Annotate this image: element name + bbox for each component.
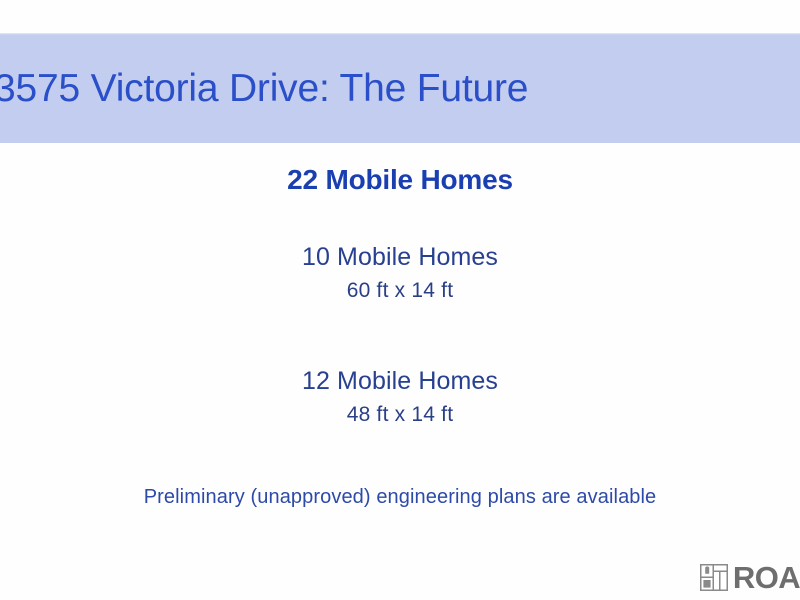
slide-body: 22 Mobile Homes 10 Mobile Homes 60 ft x … [0, 143, 800, 600]
home-group-2-title: 12 Mobile Homes [0, 367, 800, 396]
logo-wordmark: ROA [733, 562, 800, 593]
home-group-1-title: 10 Mobile Homes [0, 243, 800, 272]
slide-title: 3575 Victoria Drive: The Future [0, 69, 528, 108]
home-group-2-dimensions: 48 ft x 14 ft [0, 403, 800, 427]
home-group-1-dimensions: 60 ft x 14 ft [0, 279, 800, 303]
slide-canvas: 3575 Victoria Drive: The Future 22 Mobil… [0, 0, 800, 600]
total-homes-headline: 22 Mobile Homes [0, 165, 800, 196]
home-group-2: 12 Mobile Homes 48 ft x 14 ft [0, 367, 800, 427]
logo: ROA [700, 560, 800, 594]
building-blocks-logo-icon [700, 564, 728, 591]
engineering-plans-footnote: Preliminary (unapproved) engineering pla… [0, 485, 800, 509]
title-banner: 3575 Victoria Drive: The Future [0, 33, 800, 143]
home-group-1: 10 Mobile Homes 60 ft x 14 ft [0, 243, 800, 303]
